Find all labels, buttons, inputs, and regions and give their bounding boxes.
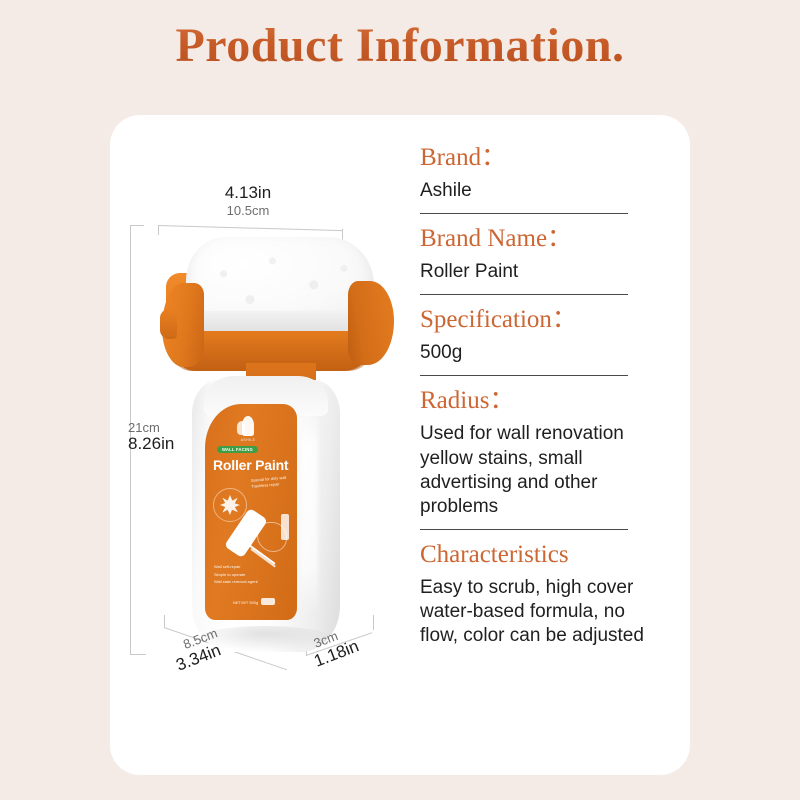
- label-side-strip: [281, 514, 289, 540]
- label-bullet: Wall self-repair: [214, 564, 290, 571]
- bottle-highlight: [300, 404, 318, 616]
- info-value-brand: Ashile: [420, 179, 645, 203]
- label-subtitle: Special for dirty wall Trackless repair: [251, 474, 294, 490]
- product-image-area: ASHILE WALL FACING Roller Paint Special …: [110, 115, 410, 775]
- dimension-tick-base-width-1: [164, 615, 165, 628]
- info-label-radius: Radius：: [420, 386, 645, 416]
- info-row-characteristics: Characteristics Easy to scrub, high cove…: [420, 540, 645, 648]
- info-label-characteristics: Characteristics: [420, 540, 645, 570]
- product-info-list: Brand： Ashile Brand Name： Roller Paint S…: [420, 143, 645, 648]
- label-product-title: Roller Paint: [213, 457, 288, 473]
- info-row-radius: Radius： Used for wall renovation yellow …: [420, 386, 645, 519]
- logo-leaf-shape-2: [237, 421, 245, 435]
- info-divider: [420, 213, 628, 214]
- label-bullet: Wall stain removal agent: [214, 579, 290, 586]
- info-value-brand-name: Roller Paint: [420, 260, 645, 284]
- logo-wordmark: ASHILE: [235, 438, 261, 442]
- dimension-label-width-top: 4.13in 10.5cm: [158, 183, 338, 218]
- dimension-height-cm: 21cm: [128, 420, 174, 435]
- label-net-weight: NET/WT 500g: [233, 600, 258, 605]
- info-value-radius: Used for wall renovation yellow stains, …: [420, 422, 645, 519]
- label-bullet: Simple to operate: [214, 572, 290, 579]
- brand-logo-icon: ASHILE: [235, 416, 261, 442]
- label-badge: [261, 598, 275, 605]
- label-bullets: Wall self-repair Simple to operate Wall …: [214, 564, 290, 587]
- roller-right-cap: [348, 281, 394, 365]
- info-row-brand-name: Brand Name： Roller Paint: [420, 224, 645, 284]
- label-tag: WALL FACING: [217, 446, 258, 453]
- dimension-height-inches: 8.26in: [128, 434, 174, 454]
- roller-side-knob: [160, 309, 177, 339]
- dimension-label-height-left: 21cm 8.26in: [128, 420, 174, 454]
- info-label-specification: Specification：: [420, 305, 645, 335]
- dimension-width-cm: 10.5cm: [158, 203, 338, 218]
- info-divider: [420, 294, 628, 295]
- info-label-brand-name: Brand Name：: [420, 224, 645, 254]
- paint-bottle: ASHILE WALL FACING Roller Paint Special …: [192, 380, 352, 655]
- page-title: Product Information.: [0, 18, 800, 73]
- dimension-width-inches: 4.13in: [158, 183, 338, 203]
- info-row-specification: Specification： 500g: [420, 305, 645, 365]
- dimension-tick-base-depth-2: [373, 615, 374, 630]
- info-divider: [420, 375, 628, 376]
- dimension-tick-left-top: [130, 225, 144, 226]
- roller-head: [148, 225, 388, 395]
- info-value-characteristics: Easy to scrub, high cover water-based fo…: [420, 576, 645, 648]
- product-information-page: Product Information.: [0, 0, 800, 800]
- roller-sponge-edge: [186, 311, 372, 331]
- bottle-label: ASHILE WALL FACING Roller Paint Special …: [205, 404, 297, 620]
- info-label-brand: Brand：: [420, 143, 645, 173]
- info-divider: [420, 529, 628, 530]
- stain-splat-icon: [213, 488, 247, 522]
- info-value-specification: 500g: [420, 341, 645, 365]
- info-row-brand: Brand： Ashile: [420, 143, 645, 203]
- product-card: ASHILE WALL FACING Roller Paint Special …: [110, 115, 690, 775]
- dimension-tick-left-bottom: [130, 654, 146, 655]
